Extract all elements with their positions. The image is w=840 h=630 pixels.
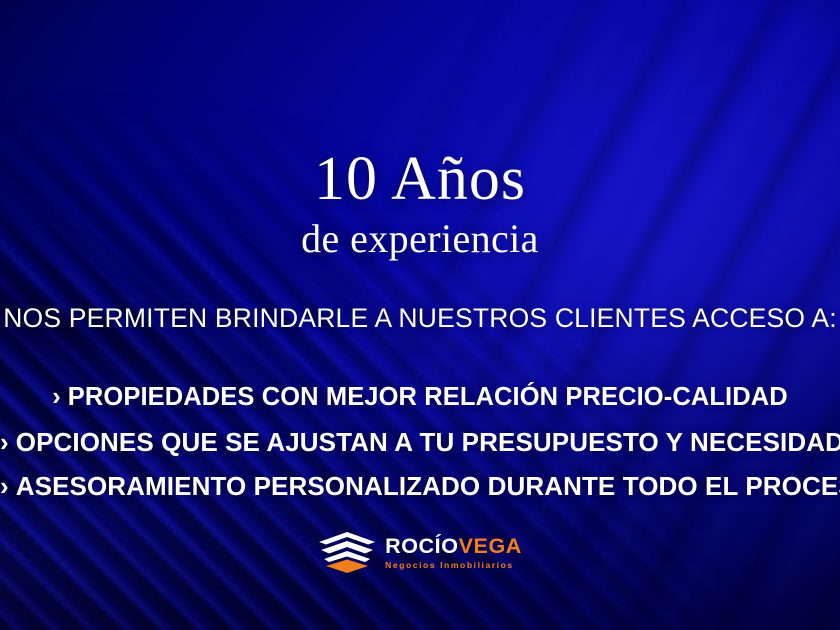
brand-wordmark: ROCÍOVEGA Negocios Inmobiliarios <box>385 536 522 570</box>
stacked-chevron-roof-icon <box>318 531 376 575</box>
list-item-label: ASESORAMIENTO PERSONALIZADO DURANTE TODO… <box>16 471 840 501</box>
headline-block: 10 Años de experiencia <box>0 148 840 261</box>
list-item: ›PROPIEDADES CON MEJOR RELACIÓN PRECIO-C… <box>0 376 840 420</box>
benefit-list: ›PROPIEDADES CON MEJOR RELACIÓN PRECIO-C… <box>0 376 840 508</box>
brand-tagline: Negocios Inmobiliarios <box>385 561 514 570</box>
headline-main: 10 Años <box>0 148 840 211</box>
brand-name: ROCÍOVEGA <box>385 536 522 558</box>
list-item-label: PROPIEDADES CON MEJOR RELACIÓN PRECIO-CA… <box>68 383 788 411</box>
list-item: ›OPCIONES QUE SE AJUSTAN A TU PRESUPUEST… <box>0 420 840 464</box>
slide-content: 10 Años de experiencia NOS PERMITEN BRIN… <box>0 0 840 630</box>
brand-name-primary: ROCÍO <box>385 534 458 558</box>
list-item: ›ASESORAMIENTO PERSONALIZADO DURANTE TOD… <box>0 464 840 508</box>
brand-name-secondary: VEGA <box>459 534 522 558</box>
list-item-label: OPCIONES QUE SE AJUSTAN A TU PRESUPUESTO… <box>16 427 840 457</box>
lead-line: NOS PERMITEN BRINDARLE A NUESTROS CLIENT… <box>0 303 840 334</box>
chevron-right-icon: › <box>52 383 61 411</box>
chevron-right-icon: › <box>0 471 9 501</box>
brand-logo: ROCÍOVEGA Negocios Inmobiliarios <box>318 531 522 575</box>
chevron-right-icon: › <box>0 427 9 457</box>
promo-slide: 10 Años de experiencia NOS PERMITEN BRIN… <box>0 0 840 630</box>
headline-sub: de experiencia <box>0 217 840 261</box>
